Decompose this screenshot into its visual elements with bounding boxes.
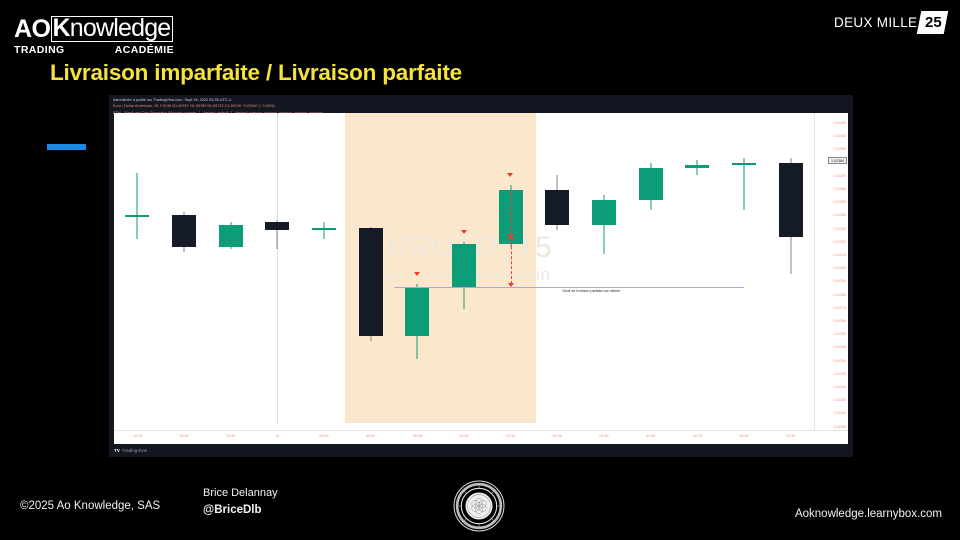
page-title: Livraison imparfaite / Livraison parfait… [50, 60, 462, 86]
copyright-text: ©2025 Ao Knowledge, SAS [20, 500, 160, 512]
candle-wick [743, 158, 744, 210]
price-tick: 1.01420 [833, 121, 846, 125]
candle-body [639, 168, 663, 200]
candle-body [219, 225, 243, 247]
price-tick: 1.01200 [833, 398, 846, 402]
author-handle: @BriceDlb [203, 502, 278, 520]
time-tick: 01:30 [553, 434, 562, 438]
candle-02-00 [639, 113, 663, 423]
price-tick: 1.01210 [833, 385, 846, 389]
website-url[interactable]: Aoknowledge.learnybox.com [795, 508, 942, 520]
price-tick: 1.01220 [833, 372, 846, 376]
price-tick: 1.01340 [833, 213, 846, 217]
author-block: Brice Delannay @BriceDlb [203, 485, 278, 520]
time-tick: 12 [275, 434, 279, 438]
time-tick: 01:15 [506, 434, 515, 438]
brand-logo: AO Knowledge TRADING ACADÉMIE [14, 16, 174, 56]
price-tick: 1.01390 [833, 147, 846, 151]
candle-body [312, 228, 336, 230]
candlestick-plot[interactable]: EURUSD, 15 Euro / Dollar américain Seuil… [114, 113, 814, 423]
price-tick: 1.01370 [833, 174, 846, 178]
candle-body [265, 222, 289, 229]
tradingview-footer-text: TradingView [122, 448, 147, 453]
logo-wordmark: AO Knowledge [14, 16, 174, 42]
candle-body [592, 200, 616, 225]
candle-23-30 [172, 113, 196, 423]
logo-subtitle: TRADING ACADÉMIE [14, 44, 174, 56]
price-tick: 1.01290 [833, 279, 846, 283]
triangle-down-icon [461, 230, 467, 234]
price-tick: 1.01360 [833, 187, 846, 191]
price-tick: 1.01300 [833, 266, 846, 270]
candle-01-30 [545, 113, 569, 423]
candle-body [452, 244, 476, 286]
price-tick: 1.01350 [833, 200, 846, 204]
current-price-tag: 1.01384 [828, 157, 847, 164]
triangle-down-icon [414, 272, 420, 276]
year-badge-number-text: 25 [925, 14, 942, 31]
time-tick: 02:30 [740, 434, 749, 438]
x-marker-icon: ✕ [506, 233, 515, 244]
year-badge-label: DEUX MILLE [834, 15, 917, 30]
price-tick: 1.01250 [833, 332, 846, 336]
accent-bar [47, 144, 86, 150]
year-badge: DEUX MILLE 25 [834, 9, 946, 35]
chart-plot-area[interactable]: EURUSD, 15 Euro / Dollar américain Seuil… [114, 113, 848, 443]
candle-00-30 [359, 113, 383, 423]
time-tick: 23:30 [180, 434, 189, 438]
price-axis[interactable]: 1.014201.014001.013901.013801.013701.013… [814, 113, 848, 443]
price-tick: 1.01310 [833, 253, 846, 257]
price-tick: 1.01240 [833, 345, 846, 349]
price-tick: 1.01280 [833, 293, 846, 297]
logo-ao-text: AO [14, 16, 51, 42]
author-name: Brice Delannay [203, 485, 278, 502]
time-tick: 23:45 [226, 434, 235, 438]
candle-body [545, 190, 569, 225]
time-tick: 02:45 [786, 434, 795, 438]
candle-00-15 [312, 113, 336, 423]
time-axis[interactable]: 23:1523:3023:451200:1500:3000:4501:0001:… [114, 430, 848, 444]
candle-wick [323, 222, 324, 239]
price-tick: 1.01260 [833, 319, 846, 323]
candle-23-45 [219, 113, 243, 423]
logo-subtitle-academie: ACADÉMIE [115, 44, 174, 56]
price-tick: 1.01320 [833, 240, 846, 244]
time-tick: 02:00 [646, 434, 655, 438]
year-badge-number: 25 [917, 11, 948, 34]
time-tick: 23:15 [133, 434, 142, 438]
time-tick: 02:15 [693, 434, 702, 438]
triangle-down-icon [507, 173, 513, 177]
candle-body [359, 228, 383, 336]
candle-wick [137, 173, 138, 240]
certification-seal-icon [453, 480, 505, 532]
candle-23-15 [125, 113, 149, 423]
logo-subtitle-trading: TRADING [14, 44, 65, 56]
price-tick: 1.01400 [833, 134, 846, 138]
candle-12 [265, 113, 289, 423]
time-tick: 01:00 [460, 434, 469, 438]
candle-body [125, 215, 149, 217]
logo-nowledge-text: nowledge [70, 14, 171, 42]
tradingview-logo-icon: TV [114, 448, 120, 453]
time-tick: 01:45 [600, 434, 609, 438]
candle-01-45 [592, 113, 616, 423]
candle-02-30 [732, 113, 756, 423]
price-tick: 1.01180 [833, 425, 846, 429]
price-tick: 1.01330 [833, 227, 846, 231]
time-tick: 00:15 [320, 434, 329, 438]
time-tick: 00:45 [413, 434, 422, 438]
candle-body [405, 287, 429, 337]
price-tick: 1.01190 [833, 411, 846, 415]
price-tick: 1.01230 [833, 359, 846, 363]
candle-02-15 [685, 113, 709, 423]
arrow-head-icon [508, 283, 514, 287]
logo-k-letter: K [53, 14, 70, 42]
candle-body [779, 163, 803, 237]
candle-02-45 [779, 113, 803, 423]
candle-body [732, 163, 756, 165]
candle-wick [697, 160, 698, 175]
candle-01-00 [452, 113, 476, 423]
time-tick: 00:30 [366, 434, 375, 438]
tradingview-chart[interactable]: Astonishire a publié sur TradingView.com… [109, 95, 853, 457]
logo-knowledge-box: Knowledge [51, 16, 174, 42]
candle-body [685, 165, 709, 167]
price-tick: 1.01270 [833, 306, 846, 310]
level-line-label: Seuil de livraison parfaite non atteint [561, 288, 621, 293]
candle-body [172, 215, 196, 247]
candle-00-45 [405, 113, 429, 423]
tradingview-footer: TV TradingView [109, 444, 853, 457]
